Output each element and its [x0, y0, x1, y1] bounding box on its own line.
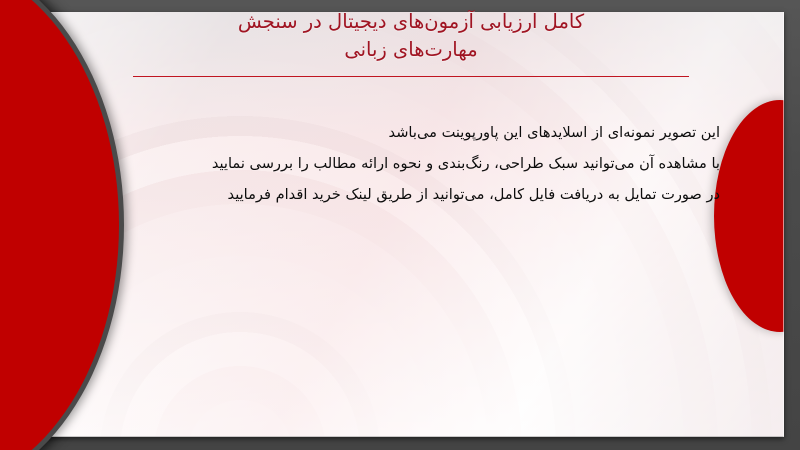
title-divider-rule: [133, 76, 689, 77]
body-line-2: با مشاهده آن می‌توانید سبک طراحی، رنگ‌بن…: [60, 149, 720, 180]
slide-body: این تصویر نمونه‌ای از اسلایدهای این پاور…: [60, 118, 760, 211]
slide-title-line-1: کامل ارزیابی آزمون‌های دیجیتال در سنجش: [133, 8, 689, 36]
body-line-3: در صورت تمایل به دریافت فایل کامل، می‌تو…: [60, 180, 720, 211]
slide-title-line-2: مهارت‌های زبانی: [133, 36, 689, 64]
slide-title: کامل ارزیابی آزمون‌های دیجیتال در سنجش م…: [133, 8, 689, 63]
slide-canvas: کامل ارزیابی آزمون‌های دیجیتال در سنجش م…: [0, 0, 800, 450]
body-line-1: این تصویر نمونه‌ای از اسلایدهای این پاور…: [60, 118, 720, 149]
